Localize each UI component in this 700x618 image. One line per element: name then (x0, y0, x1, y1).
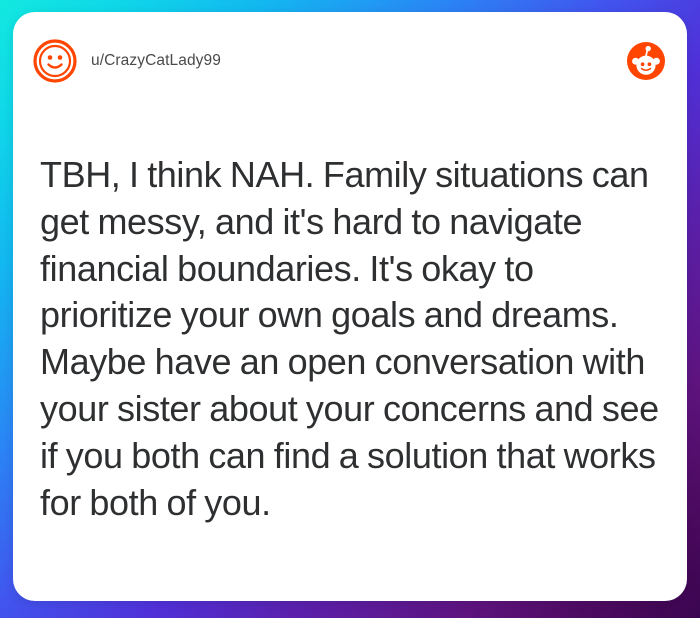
username-label: u/CrazyCatLady99 (91, 52, 221, 70)
smiley-face-icon (33, 39, 77, 83)
post-header: u/CrazyCatLady99 (13, 12, 687, 110)
reddit-post-card: u/CrazyCatLady99 TBH, I think NAH. Famil… (13, 12, 687, 601)
reddit-snoo-icon (627, 42, 665, 80)
post-body-text: TBH, I think NAH. Family situations can … (40, 152, 665, 526)
